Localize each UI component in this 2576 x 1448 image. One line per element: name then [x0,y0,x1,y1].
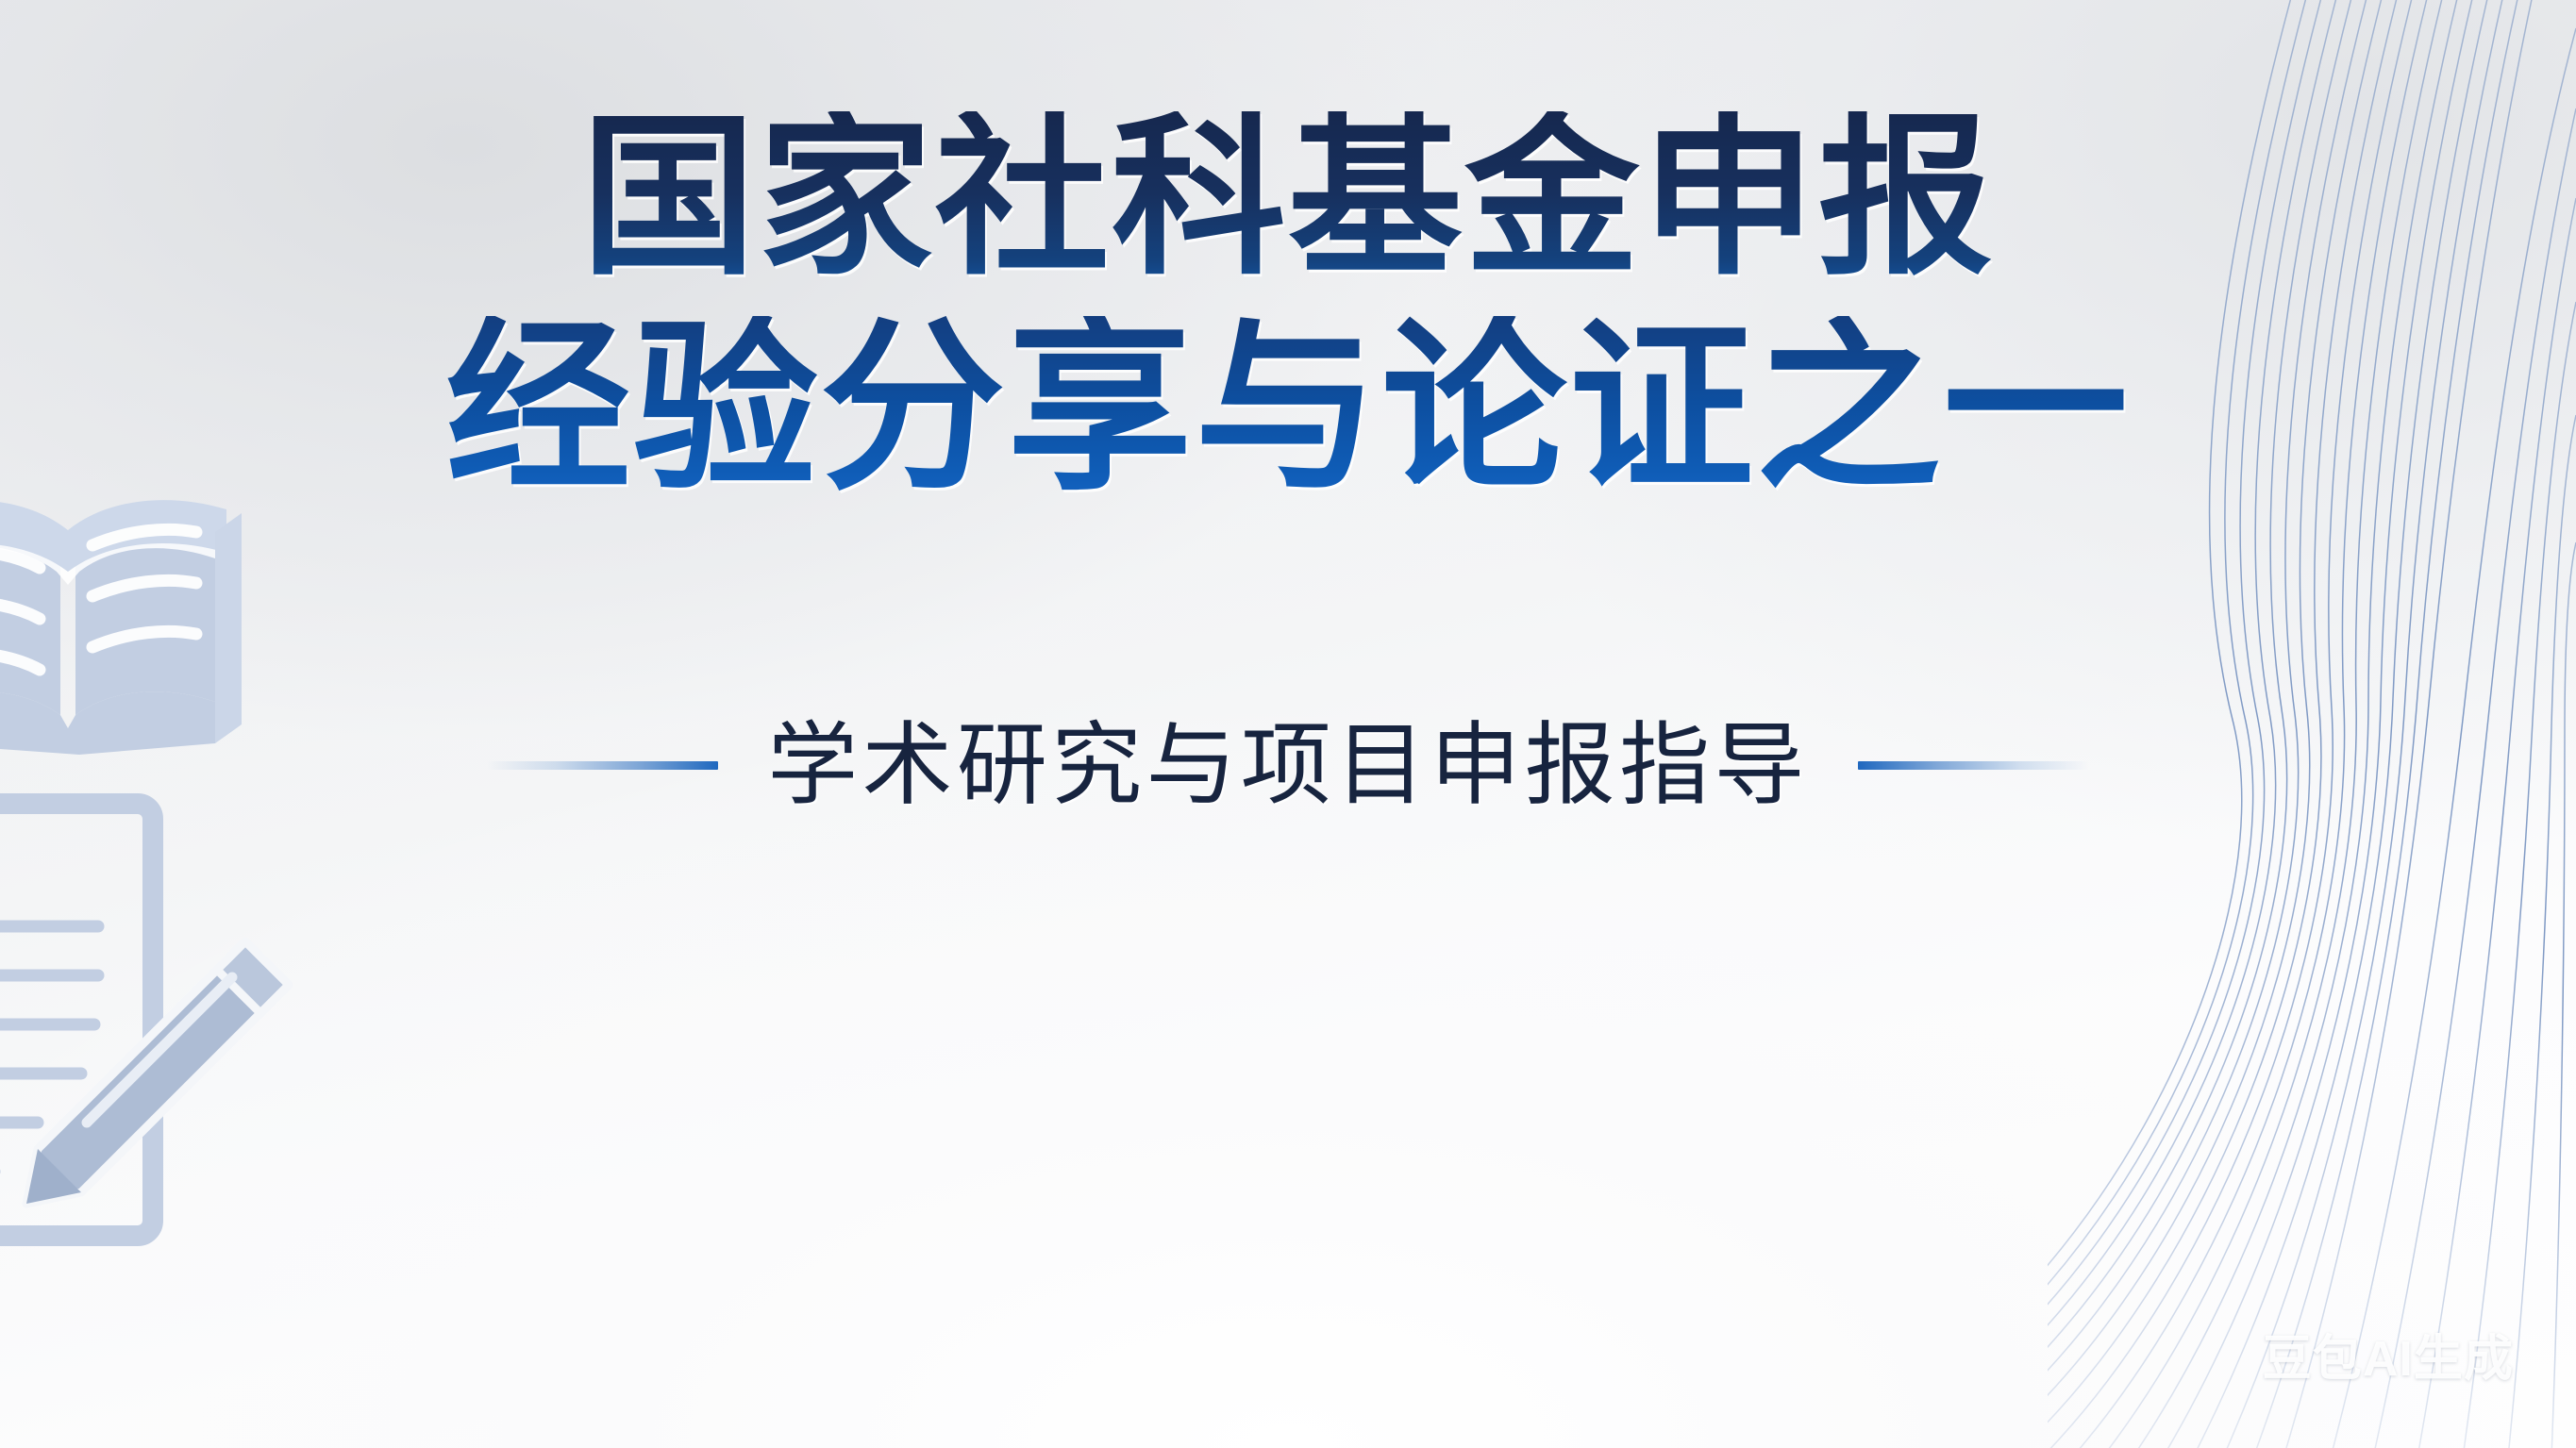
page-subtitle: 学术研究与项目申报指导 [767,717,1809,815]
subtitle-row: 学术研究与项目申报指导 [0,717,2576,815]
slide-canvas: 国家社科基金申报 经验分享与论证之一 学术研究与项目申报指导 豆包AI生成 [0,0,2576,1448]
pencil-icon [26,941,289,1204]
divider-left [487,761,718,770]
title-block: 国家社科基金申报 经验分享与论证之一 [0,111,2576,508]
book-document-pencil-illustration [0,472,319,1255]
document-icon [0,804,153,1236]
watermark-label: 豆包AI生成 [2263,1319,2514,1390]
divider-right [1858,761,2089,770]
page-title-line-1: 国家社科基金申报 [0,111,2576,293]
page-title-line-2: 经验分享与论证之一 [0,316,2576,508]
